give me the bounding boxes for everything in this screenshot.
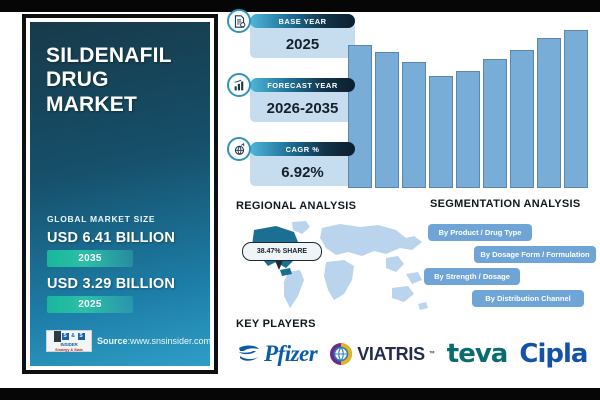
chart-bar xyxy=(510,50,534,188)
chart-bar xyxy=(429,76,453,188)
logo-figure-icon xyxy=(54,331,61,342)
page-title: SILDENAFIL DRUG MARKET xyxy=(46,44,194,117)
viatris-mark-icon xyxy=(329,342,353,366)
key-players-logos: Pfizer VIATRIS ™ teva Cipla xyxy=(236,334,594,374)
regional-analysis-heading: REGIONAL ANALYSIS xyxy=(236,200,356,212)
pill-header-base-year: BASE YEAR xyxy=(250,14,355,28)
logo-tagline: Strategy & Stats xyxy=(55,348,83,352)
market-size-value-2025: USD 3.29 BILLION xyxy=(47,276,175,292)
cipla-wordmark: Cipla xyxy=(519,339,587,369)
logo-top-row: S & S xyxy=(54,331,85,342)
chart-bar xyxy=(483,59,507,188)
report-document-icon xyxy=(227,9,251,33)
chart-bar xyxy=(402,62,426,188)
pfizer-mark-icon xyxy=(236,342,262,366)
segmentation-item[interactable]: By Distribution Channel xyxy=(472,290,584,307)
pill-base-year: BASE YEAR 2025 xyxy=(250,14,355,58)
chart-bar xyxy=(375,52,399,188)
viatris-trademark-symbol: ™ xyxy=(429,351,435,357)
market-growth-bar-chart xyxy=(348,16,588,188)
pill-header-cagr: CAGR % xyxy=(250,142,355,156)
title-line-1: SILDENAFIL xyxy=(46,44,194,68)
source-row: S & S INSIDER Strategy & Stats Source:ww… xyxy=(46,330,210,352)
pill-forecast-year: FORECAST YEAR 2026-2035 xyxy=(250,78,355,122)
logo-teva[interactable]: teva xyxy=(447,339,508,369)
market-size-year-2035: 2035 xyxy=(47,250,133,267)
letterbox-bottom xyxy=(0,388,600,400)
logo-cipla[interactable]: Cipla xyxy=(519,339,587,369)
market-size-value-2035: USD 6.41 BILLION xyxy=(47,230,175,246)
logo-pfizer[interactable]: Pfizer xyxy=(236,341,317,367)
chart-bar xyxy=(456,71,480,188)
logo-ampersand: & xyxy=(70,333,77,340)
market-size-year-2025: 2025 xyxy=(47,296,133,313)
teva-wordmark: teva xyxy=(447,339,508,369)
pill-header-forecast-year: FORECAST YEAR xyxy=(250,78,355,92)
chart-bar xyxy=(537,38,561,188)
pfizer-wordmark: Pfizer xyxy=(264,341,317,367)
growth-globe-icon xyxy=(227,137,251,161)
logo-letter-s2: S xyxy=(78,333,85,340)
source-text[interactable]: Source:www.snsinsider.com xyxy=(97,336,210,346)
global-market-size-label: GLOBAL MARKET SIZE xyxy=(47,214,155,224)
key-players-heading: KEY PLAYERS xyxy=(236,318,316,330)
title-line-2: DRUG MARKET xyxy=(46,68,194,117)
infographic-root: SILDENAFIL DRUG MARKET GLOBAL MARKET SIZ… xyxy=(0,0,600,400)
segmentation-item[interactable]: By Product / Drug Type xyxy=(428,224,532,241)
sns-insider-logo: S & S INSIDER Strategy & Stats xyxy=(46,330,92,352)
segmentation-item[interactable]: By Dosage Form / Formulation xyxy=(474,246,596,263)
chart-bar xyxy=(348,45,372,188)
segmentation-list: By Product / Drug TypeBy Dosage Form / F… xyxy=(398,198,600,316)
viatris-wordmark: VIATRIS xyxy=(357,344,425,365)
chart-bars xyxy=(348,16,588,188)
source-url: :www.snsinsider.com xyxy=(128,336,210,346)
source-label: Source xyxy=(97,336,128,346)
letterbox-top xyxy=(0,0,600,12)
logo-viatris[interactable]: VIATRIS ™ xyxy=(329,342,435,366)
segmentation-item[interactable]: By Strength / Dosage xyxy=(424,268,520,285)
regional-share-callout: 38.47% SHARE xyxy=(242,242,322,261)
logo-wordmark: INSIDER xyxy=(60,342,77,347)
left-panel: SILDENAFIL DRUG MARKET GLOBAL MARKET SIZ… xyxy=(30,22,210,366)
chart-bar xyxy=(564,30,588,188)
bar-chart-icon xyxy=(227,73,251,97)
pill-cagr: CAGR % 6.92% xyxy=(250,142,355,186)
logo-letter-s1: S xyxy=(62,333,69,340)
